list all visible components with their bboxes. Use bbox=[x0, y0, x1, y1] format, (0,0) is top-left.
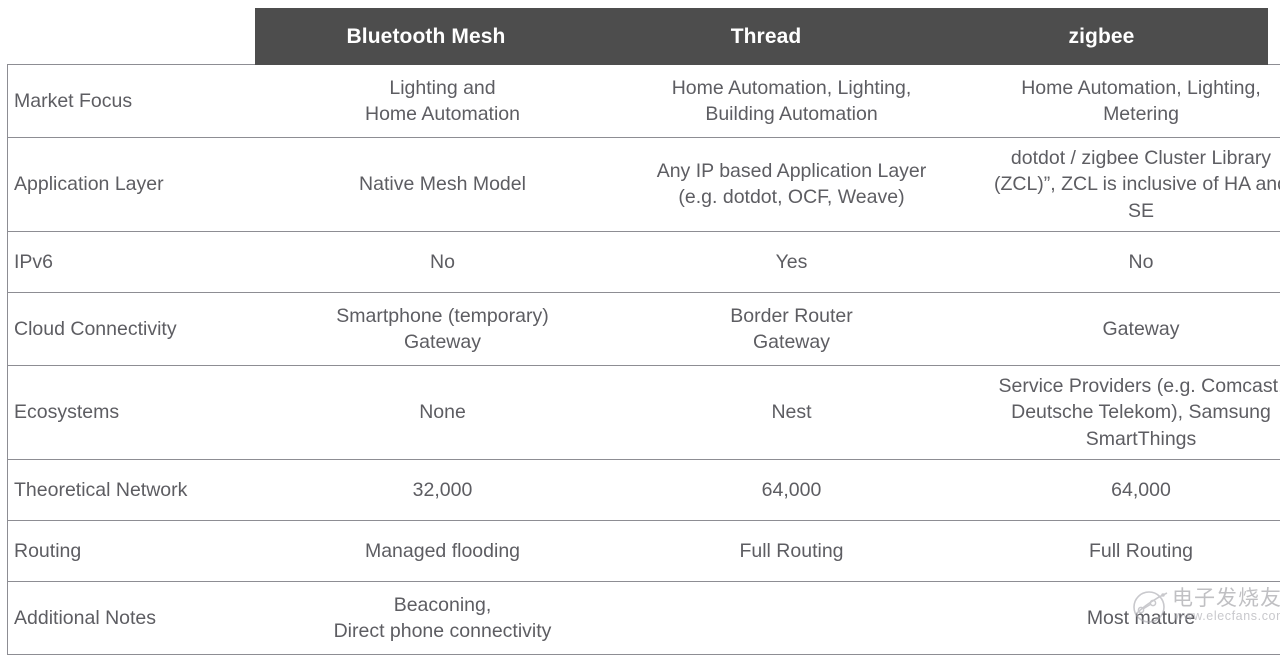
table-row: Additional Notes Beaconing,Direct phone … bbox=[8, 581, 1280, 654]
table-row: Cloud Connectivity Smartphone (temporary… bbox=[8, 292, 1280, 365]
cell-theoretical-network-bluetooth-mesh: 32,000 bbox=[268, 459, 617, 520]
row-label-routing: Routing bbox=[8, 520, 269, 581]
cell-additional-notes-zigbee: Most mature bbox=[966, 581, 1280, 654]
cell-ecosystems-bluetooth-mesh: None bbox=[268, 365, 617, 459]
cell-theoretical-network-thread: 64,000 bbox=[617, 459, 966, 520]
cell-cloud-connectivity-bluetooth-mesh: Smartphone (temporary)Gateway bbox=[268, 292, 617, 365]
protocol-comparison-table: Market Focus Lighting andHome Automation… bbox=[7, 64, 1280, 655]
cell-cloud-connectivity-zigbee: Gateway bbox=[966, 292, 1280, 365]
table-row: IPv6 No Yes No bbox=[8, 231, 1280, 292]
cell-market-focus-bluetooth-mesh: Lighting andHome Automation bbox=[268, 65, 617, 138]
cell-routing-bluetooth-mesh: Managed flooding bbox=[268, 520, 617, 581]
table-header-band: Bluetooth Mesh Thread zigbee bbox=[255, 8, 1268, 65]
cell-market-focus-zigbee: Home Automation, Lighting,Metering bbox=[966, 65, 1280, 138]
cell-market-focus-thread: Home Automation, Lighting,Building Autom… bbox=[617, 65, 966, 138]
cell-ipv6-bluetooth-mesh: No bbox=[268, 231, 617, 292]
cell-additional-notes-thread bbox=[617, 581, 966, 654]
cell-routing-zigbee: Full Routing bbox=[966, 520, 1280, 581]
row-label-ecosystems: Ecosystems bbox=[8, 365, 269, 459]
table-row: Ecosystems None Nest Service Providers (… bbox=[8, 365, 1280, 459]
column-header-zigbee: zigbee bbox=[935, 25, 1268, 49]
cell-ipv6-thread: Yes bbox=[617, 231, 966, 292]
cell-ecosystems-zigbee: Service Providers (e.g. Comcast,Deutsche… bbox=[966, 365, 1280, 459]
row-label-application-layer: Application Layer bbox=[8, 138, 269, 232]
row-label-cloud-connectivity: Cloud Connectivity bbox=[8, 292, 269, 365]
cell-application-layer-thread: Any IP based Application Layer(e.g. dotd… bbox=[617, 138, 966, 232]
cell-application-layer-zigbee: dotdot / zigbee Cluster Library(ZCL)”, Z… bbox=[966, 138, 1280, 232]
cell-ecosystems-thread: Nest bbox=[617, 365, 966, 459]
column-header-thread: Thread bbox=[597, 25, 935, 49]
cell-cloud-connectivity-thread: Border RouterGateway bbox=[617, 292, 966, 365]
row-label-ipv6: IPv6 bbox=[8, 231, 269, 292]
cell-theoretical-network-zigbee: 64,000 bbox=[966, 459, 1280, 520]
column-header-bluetooth-mesh: Bluetooth Mesh bbox=[255, 25, 597, 49]
table-body: Market Focus Lighting andHome Automation… bbox=[8, 65, 1280, 655]
row-label-market-focus: Market Focus bbox=[8, 65, 269, 138]
table-row: Market Focus Lighting andHome Automation… bbox=[8, 65, 1280, 138]
table-row: Application Layer Native Mesh Model Any … bbox=[8, 138, 1280, 232]
row-label-theoretical-network: Theoretical Network bbox=[8, 459, 269, 520]
table-row: Routing Managed flooding Full Routing Fu… bbox=[8, 520, 1280, 581]
cell-application-layer-bluetooth-mesh: Native Mesh Model bbox=[268, 138, 617, 232]
cell-routing-thread: Full Routing bbox=[617, 520, 966, 581]
table-row: Theoretical Network 32,000 64,000 64,000 bbox=[8, 459, 1280, 520]
row-label-additional-notes: Additional Notes bbox=[8, 581, 269, 654]
comparison-table-page: Bluetooth Mesh Thread zigbee Market Focu… bbox=[0, 0, 1280, 640]
cell-additional-notes-bluetooth-mesh: Beaconing,Direct phone connectivity bbox=[268, 581, 617, 654]
cell-ipv6-zigbee: No bbox=[966, 231, 1280, 292]
